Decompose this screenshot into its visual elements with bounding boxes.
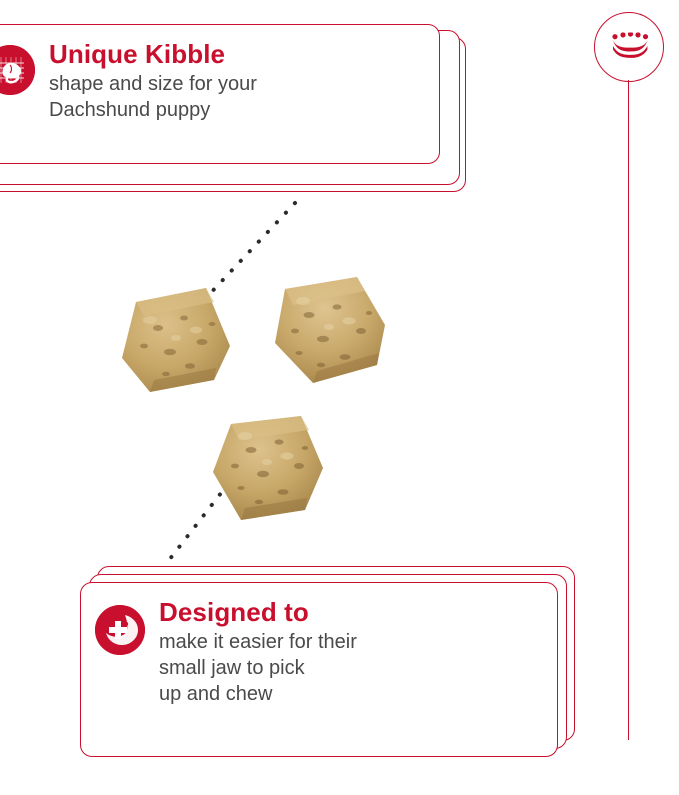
card-designed-to-main: Designed to make it easier for their sma… <box>80 582 558 757</box>
image-canvas: Unique Kibble shape and size for your Da… <box>0 0 679 795</box>
card-title: Designed to <box>159 597 541 627</box>
card-body-line: make it easier for their <box>159 629 541 655</box>
card-body: shape and size for your Dachshund puppy <box>49 71 423 123</box>
card-body: make it easier for their small jaw to pi… <box>159 629 541 707</box>
card-designed-to: Designed to make it easier for their sma… <box>80 566 590 756</box>
card-body-line: Dachshund puppy <box>49 97 423 123</box>
card-unique-kibble-main: Unique Kibble shape and size for your Da… <box>0 24 440 164</box>
card-title: Unique Kibble <box>49 39 423 69</box>
kibble-left <box>110 280 240 400</box>
card-body-line: up and chew <box>159 681 541 707</box>
card-text-block: Unique Kibble shape and size for your Da… <box>49 39 423 123</box>
kibble-group <box>95 255 445 545</box>
dog-jaw-cross-icon <box>95 605 145 655</box>
royal-canin-crown-logo <box>594 12 666 80</box>
kibble-bottom <box>205 410 333 528</box>
card-text-block: Designed to make it easier for their sma… <box>159 597 541 707</box>
kibble-right <box>265 273 395 391</box>
card-body-line: small jaw to pick <box>159 655 541 681</box>
crown-icon <box>610 32 650 58</box>
kibble-shape-icon <box>0 45 35 95</box>
card-unique-kibble: Unique Kibble shape and size for your Da… <box>0 24 470 192</box>
brand-vertical-rule <box>628 80 629 740</box>
card-body-line: shape and size for your <box>49 71 423 97</box>
